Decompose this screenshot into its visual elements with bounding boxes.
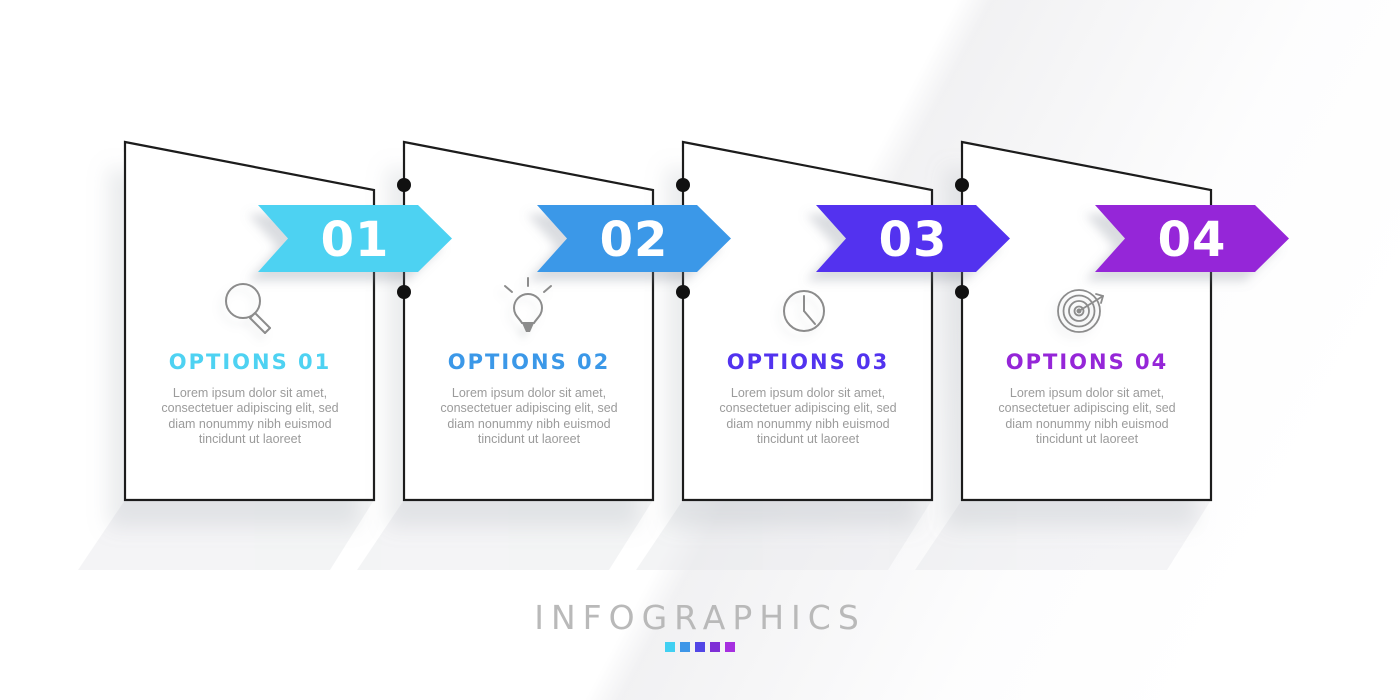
footer: INFOGRAPHICS [0,598,1400,652]
swatch-blue [680,642,690,652]
step-title-4: OPTIONS 04 [962,350,1212,374]
connector-dot-2-top [676,178,690,192]
step-body-2: Lorem ipsum dolor sit amet, consectetuer… [438,386,620,448]
step-text-2: OPTIONS 02 Lorem ipsum dolor sit amet, c… [404,350,654,448]
step-text-3: OPTIONS 03 Lorem ipsum dolor sit amet, c… [683,350,933,448]
swatch-purple [725,642,735,652]
banner-number-1: 01 [321,212,390,268]
connector-dot-1-bottom [397,285,411,299]
infographic-canvas: 01 02 03 04 [0,0,1400,700]
step-title-3: OPTIONS 03 [683,350,933,374]
swatch-violet [710,642,720,652]
connector-dot-2-bottom [676,285,690,299]
swatch-indigo [695,642,705,652]
step-title-2: OPTIONS 02 [404,350,654,374]
panel-ground-shadows [78,500,1211,570]
banner-number-4: 04 [1158,212,1227,268]
connector-dot-3-top [955,178,969,192]
step-body-3: Lorem ipsum dolor sit amet, consectetuer… [717,386,899,448]
step-body-1: Lorem ipsum dolor sit amet, consectetuer… [159,386,341,448]
footer-title: INFOGRAPHICS [0,598,1400,638]
banner-number-2: 02 [600,212,669,268]
connector-dot-1-top [397,178,411,192]
swatch-cyan [665,642,675,652]
connector-dot-3-bottom [955,285,969,299]
step-text-1: OPTIONS 01 Lorem ipsum dolor sit amet, c… [125,350,375,448]
step-title-1: OPTIONS 01 [125,350,375,374]
step-body-4: Lorem ipsum dolor sit amet, consectetuer… [996,386,1178,448]
footer-swatches [0,642,1400,652]
step-text-4: OPTIONS 04 Lorem ipsum dolor sit amet, c… [962,350,1212,448]
banner-number-3: 03 [879,212,948,268]
